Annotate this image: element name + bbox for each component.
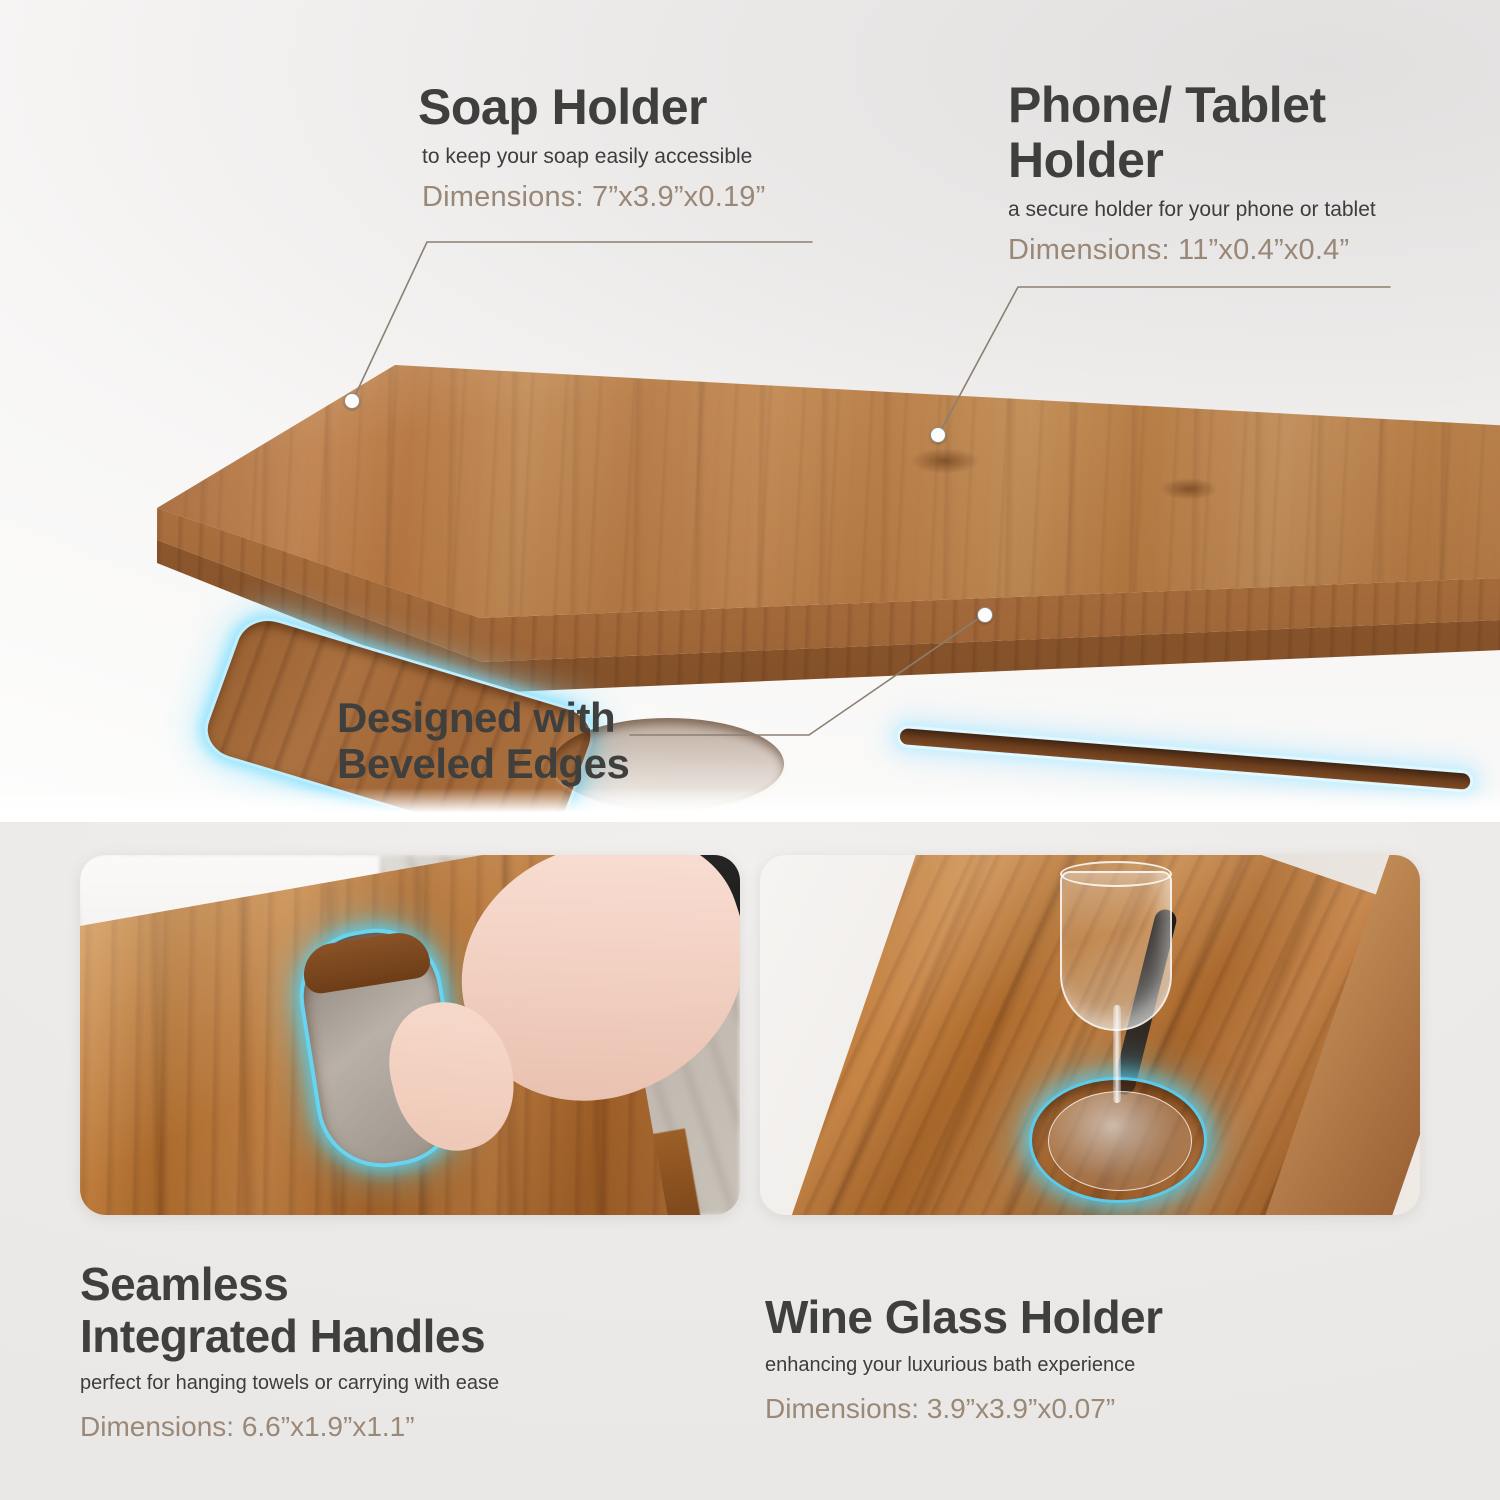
wine-glass-base (1048, 1091, 1192, 1191)
phone-tablet-holder-title: Phone/ Tablet Holder (1008, 78, 1376, 188)
wine-glass-bowl (1060, 871, 1172, 1031)
leader-line-soap (353, 242, 812, 400)
leader-dot-bevel (977, 607, 993, 623)
integrated-handles-subtitle: perfect for hanging towels or carrying w… (80, 1372, 499, 1395)
leader-dot-phone (930, 427, 946, 443)
wine-glass-holder-dimensions: Dimensions: 3.9”x3.9”x0.07” (765, 1393, 1163, 1425)
soap-holder-title: Soap Holder (418, 80, 765, 135)
soap-holder-dimensions: Dimensions: 7”x3.9”x0.19” (422, 181, 765, 214)
phone-tablet-holder-dimensions: Dimensions: 11”x0.4”x0.4” (1008, 234, 1376, 267)
photo-wine-glass-holder (760, 855, 1420, 1215)
top-feature-panel: Soap Holder to keep your soap easily acc… (0, 0, 1500, 822)
phone-tablet-holder-subtitle: a secure holder for your phone or tablet (1008, 198, 1376, 222)
caption-wine-glass-holder: Wine Glass Holder enhancing your luxurio… (765, 1292, 1163, 1425)
feature-label-beveled-edges: Designed with Beveled Edges (337, 695, 629, 787)
feature-label-soap-holder: Soap Holder to keep your soap easily acc… (418, 80, 765, 214)
feature-label-phone-tablet-holder: Phone/ Tablet Holder a secure holder for… (1008, 78, 1376, 267)
integrated-handles-title: Seamless Integrated Handles (80, 1259, 499, 1362)
beveled-edges-title: Designed with Beveled Edges (337, 695, 629, 787)
bottom-feature-panel: Seamless Integrated Handles perfect for … (0, 822, 1500, 1500)
caption-integrated-handles: Seamless Integrated Handles perfect for … (80, 1259, 499, 1443)
leader-line-bevel (630, 614, 985, 735)
leader-dot-soap (344, 393, 360, 409)
wine-glass-rim (1060, 861, 1172, 887)
photo-integrated-handles (80, 855, 740, 1215)
soap-holder-subtitle: to keep your soap easily accessible (422, 145, 765, 169)
leader-line-phone (939, 287, 1390, 434)
product-infographic: Soap Holder to keep your soap easily acc… (0, 0, 1500, 1500)
integrated-handles-dimensions: Dimensions: 6.6”x1.9”x1.1” (80, 1411, 499, 1443)
wine-glass-holder-subtitle: enhancing your luxurious bath experience (765, 1354, 1163, 1377)
wine-glass-holder-title: Wine Glass Holder (765, 1292, 1163, 1344)
